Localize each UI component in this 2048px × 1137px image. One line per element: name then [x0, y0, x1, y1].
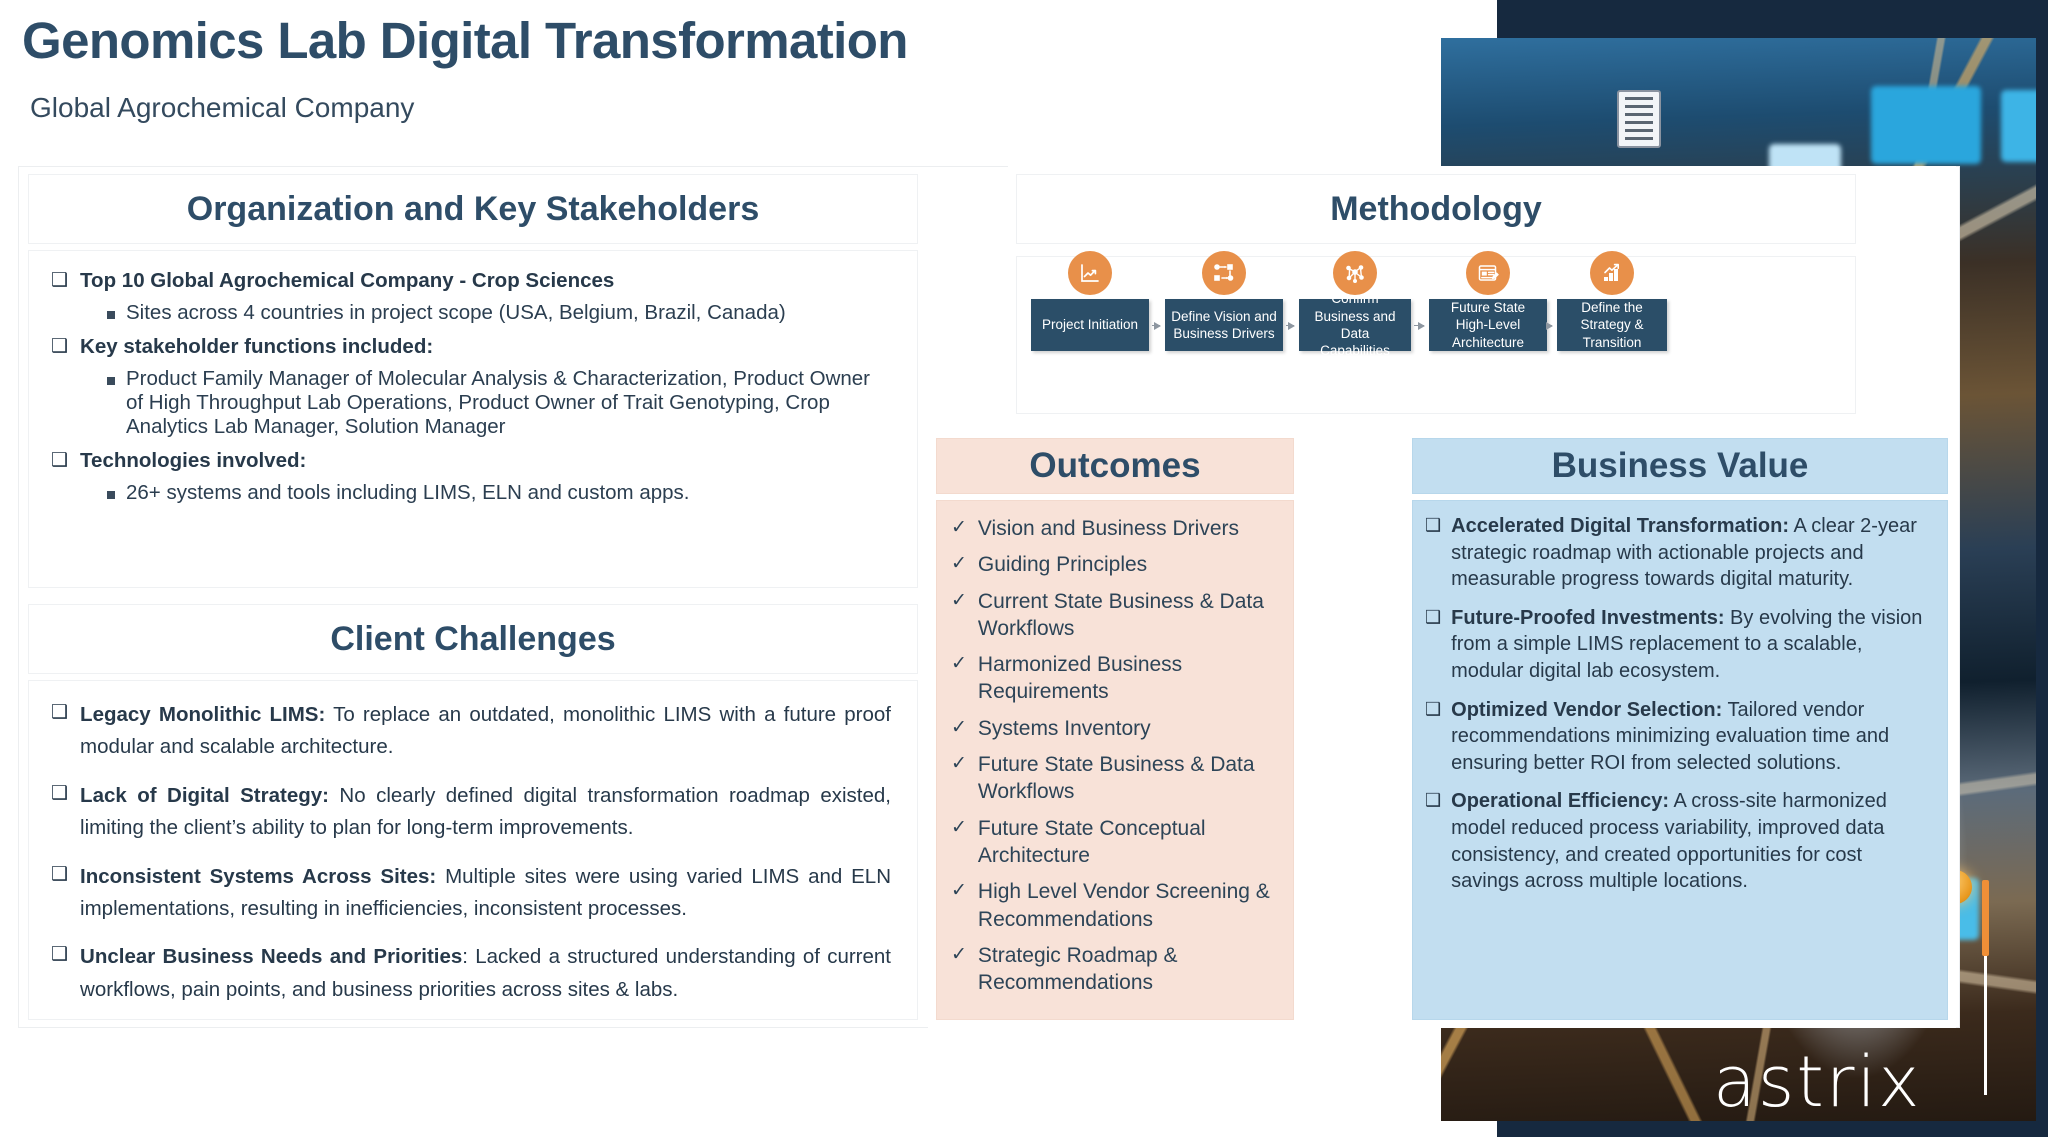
list-item: ❑Future-Proofed Investments: By evolving… — [1425, 605, 1933, 685]
molecule-icon — [1333, 251, 1377, 295]
client-challenges-header-panel: Client Challenges — [28, 604, 918, 674]
page-subtitle: Global Agrochemical Company — [30, 92, 414, 124]
list-item: ✓Future State Business & Data Workflows — [951, 751, 1277, 806]
bullet-square-icon — [107, 311, 115, 319]
check-icon: ✓ — [951, 515, 967, 541]
outcomes-heading: Outcomes — [936, 438, 1294, 494]
checkbox-square-icon: ❑ — [51, 449, 68, 473]
methodology-step-label: Define Vision and Business Drivers — [1170, 308, 1278, 343]
list-item-label: Future State Business & Data Workflows — [978, 751, 1277, 806]
list-item-label: Accelerated Digital Transformation: A cl… — [1451, 513, 1933, 593]
methodology-step: Define the Strategy & Transition — [1557, 299, 1667, 351]
methodology-step-box[interactable]: Confirm Business and Data Capabilities — [1299, 299, 1411, 351]
check-icon: ✓ — [951, 942, 967, 968]
methodology-step-label: Project Initiation — [1042, 316, 1138, 333]
bullet-square-icon — [107, 491, 115, 499]
methodology-flow-diagram: Project InitiationDefine Vision and Busi… — [1017, 257, 1855, 413]
list-item-label: Inconsistent Systems Across Sites: Multi… — [80, 861, 891, 926]
organization-heading: Organization and Key Stakeholders — [28, 174, 918, 244]
bullet-square-icon — [107, 377, 115, 385]
flow-arrow-icon — [1286, 325, 1294, 326]
photo-screen-glow — [2001, 90, 2036, 162]
photo-screen-glow — [1871, 86, 1981, 164]
list-item: ✓Current State Business & Data Workflows — [951, 588, 1277, 643]
list-item: ✓Harmonized Business Requirements — [951, 651, 1277, 706]
list-item: ✓Guiding Principles — [951, 551, 1277, 578]
outcomes-list: ✓Vision and Business Drivers✓Guiding Pri… — [937, 501, 1293, 1013]
list-item-label: Vision and Business Drivers — [978, 515, 1239, 542]
check-icon: ✓ — [951, 715, 967, 741]
methodology-step: Confirm Business and Data Capabilities — [1299, 299, 1411, 351]
document-edit-icon — [1466, 251, 1510, 295]
business-value-header-panel: Business Value — [1412, 438, 1948, 494]
check-icon: ✓ — [951, 551, 967, 577]
organization-header-panel: Organization and Key Stakeholders — [28, 174, 918, 244]
accent-rule — [1984, 880, 1987, 1095]
list-item-label: Current State Business & Data Workflows — [978, 588, 1277, 643]
list-item: ✓Vision and Business Drivers — [951, 515, 1277, 542]
checkbox-square-icon: ❑ — [51, 335, 68, 359]
methodology-heading: Methodology — [1016, 174, 1856, 244]
list-item: ❑Optimized Vendor Selection: Tailored ve… — [1425, 697, 1933, 777]
methodology-step-box[interactable]: Project Initiation — [1031, 299, 1149, 351]
list-item-label: Unclear Business Needs and Priorities: L… — [80, 941, 891, 1006]
check-icon: ✓ — [951, 588, 967, 614]
list-item: ✓High Level Vendor Screening & Recommend… — [951, 878, 1277, 933]
checkbox-square-icon: ❑ — [51, 699, 68, 728]
list-item: ❑Inconsistent Systems Across Sites: Mult… — [51, 861, 891, 926]
check-icon: ✓ — [951, 815, 967, 841]
list-item: ✓Systems Inventory — [951, 715, 1277, 742]
flow-arrow-icon — [1152, 325, 1160, 326]
checkbox-square-icon: ❑ — [51, 861, 68, 890]
list-item-label: Guiding Principles — [978, 551, 1147, 578]
list-item: ❑Operational Efficiency: A cross-site ha… — [1425, 788, 1933, 894]
client-challenges-list: ❑Legacy Monolithic LIMS: To replace an o… — [29, 681, 917, 1032]
client-challenges-heading: Client Challenges — [28, 604, 918, 674]
organization-body-panel: ❑Top 10 Global Agrochemical Company - Cr… — [28, 250, 918, 588]
checkbox-square-icon: ❑ — [51, 780, 68, 809]
checkbox-square-icon: ❑ — [1425, 788, 1441, 812]
methodology-step-label: Confirm Business and Data Capabilities — [1304, 290, 1406, 359]
sub-list-item-label: 26+ systems and tools including LIMS, EL… — [126, 481, 689, 505]
list-item-label: Operational Efficiency: A cross-site har… — [1451, 788, 1933, 894]
list-item: ✓Strategic Roadmap & Recommendations — [951, 942, 1277, 997]
methodology-step: Future State High-Level Architecture — [1429, 299, 1547, 351]
methodology-step-label: Define the Strategy & Transition — [1562, 299, 1662, 351]
flow-arrow-icon — [1550, 325, 1552, 326]
check-icon: ✓ — [951, 651, 967, 677]
sub-list-item-label: Product Family Manager of Molecular Anal… — [126, 367, 891, 439]
list-item-label: Lack of Digital Strategy: No clearly def… — [80, 780, 891, 845]
list-item-label: Technologies involved: — [80, 449, 306, 473]
checkbox-square-icon: ❑ — [1425, 697, 1441, 721]
list-item: ❑Accelerated Digital Transformation: A c… — [1425, 513, 1933, 593]
business-value-list: ❑Accelerated Digital Transformation: A c… — [1413, 501, 1947, 915]
list-item-label: Top 10 Global Agrochemical Company - Cro… — [80, 269, 614, 293]
methodology-header-panel: Methodology — [1016, 174, 1856, 244]
list-item-label: Future State Conceptual Architecture — [978, 815, 1277, 870]
workflow-nodes-icon — [1202, 251, 1246, 295]
methodology-step-box[interactable]: Define the Strategy & Transition — [1557, 299, 1667, 351]
organization-bullet-list: ❑Top 10 Global Agrochemical Company - Cr… — [29, 251, 917, 525]
document-overlay-icon — [1617, 90, 1661, 148]
methodology-body-panel: Project InitiationDefine Vision and Busi… — [1016, 256, 1856, 414]
list-item-label: Strategic Roadmap & Recommendations — [978, 942, 1277, 997]
sub-list-item: Product Family Manager of Molecular Anal… — [107, 367, 891, 439]
list-item-label: Systems Inventory — [978, 715, 1151, 742]
list-item: ❑Technologies involved: — [51, 449, 891, 473]
line-chart-icon — [1068, 251, 1112, 295]
list-item: ❑Unclear Business Needs and Priorities: … — [51, 941, 891, 1006]
list-item: ❑Top 10 Global Agrochemical Company - Cr… — [51, 269, 891, 293]
sub-list-item: 26+ systems and tools including LIMS, EL… — [107, 481, 891, 505]
list-item: ✓Future State Conceptual Architecture — [951, 815, 1277, 870]
slide-canvas: astrix Genomics Lab Digital Transformati… — [0, 0, 2048, 1137]
list-item-label: Legacy Monolithic LIMS: To replace an ou… — [80, 699, 891, 764]
checkbox-square-icon: ❑ — [1425, 513, 1441, 537]
checkbox-square-icon: ❑ — [51, 941, 68, 970]
list-item-label: High Level Vendor Screening & Recommenda… — [978, 878, 1277, 933]
page-title: Genomics Lab Digital Transformation — [22, 11, 908, 70]
methodology-step-box[interactable]: Future State High-Level Architecture — [1429, 299, 1547, 351]
outcomes-header-panel: Outcomes — [936, 438, 1294, 494]
check-icon: ✓ — [951, 751, 967, 777]
list-item-label: Key stakeholder functions included: — [80, 335, 433, 359]
list-item-label: Future-Proofed Investments: By evolving … — [1451, 605, 1933, 685]
list-item: ❑Key stakeholder functions included: — [51, 335, 891, 359]
stairs-growth-icon — [1590, 251, 1634, 295]
business-value-heading: Business Value — [1412, 438, 1948, 494]
list-item-label: Harmonized Business Requirements — [978, 651, 1277, 706]
methodology-step: Project Initiation — [1031, 299, 1149, 351]
client-challenges-body-panel: ❑Legacy Monolithic LIMS: To replace an o… — [28, 680, 918, 1020]
checkbox-square-icon: ❑ — [1425, 605, 1441, 629]
list-item-label: Optimized Vendor Selection: Tailored ven… — [1451, 697, 1933, 777]
sub-list-item: Sites across 4 countries in project scop… — [107, 301, 891, 325]
flow-arrow-icon — [1414, 325, 1424, 326]
sub-list-item-label: Sites across 4 countries in project scop… — [126, 301, 786, 325]
methodology-step: Define Vision and Business Drivers — [1165, 299, 1283, 351]
methodology-step-box[interactable]: Define Vision and Business Drivers — [1165, 299, 1283, 351]
list-item: ❑Legacy Monolithic LIMS: To replace an o… — [51, 699, 891, 764]
methodology-step-label: Future State High-Level Architecture — [1434, 299, 1542, 351]
checkbox-square-icon: ❑ — [51, 269, 68, 293]
astrix-logo: astrix — [1713, 1047, 1921, 1117]
check-icon: ✓ — [951, 878, 967, 904]
business-value-body-panel: ❑Accelerated Digital Transformation: A c… — [1412, 500, 1948, 1020]
outcomes-body-panel: ✓Vision and Business Drivers✓Guiding Pri… — [936, 500, 1294, 1020]
list-item: ❑Lack of Digital Strategy: No clearly de… — [51, 780, 891, 845]
